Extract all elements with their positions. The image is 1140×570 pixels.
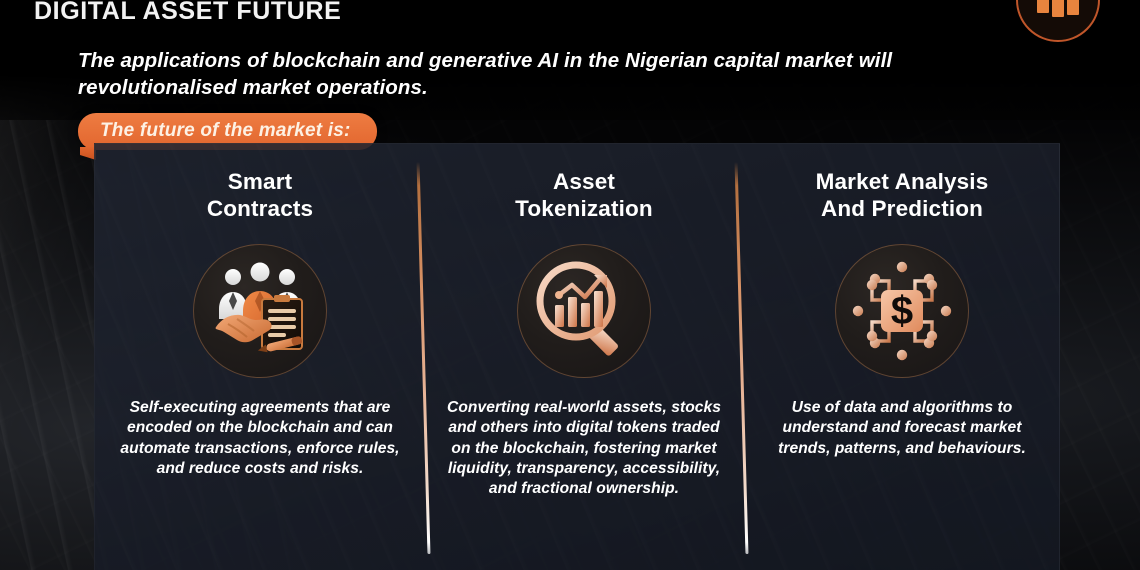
column-title-line-1: Smart (228, 169, 293, 194)
content-panel: Smart Contracts (94, 143, 1060, 570)
column-body-market-analysis: Use of data and algorithms to understand… (756, 398, 1049, 459)
column-body-smart-contracts: Self-executing agreements that are encod… (108, 398, 412, 479)
column-title-line-2: Contracts (207, 196, 313, 221)
page-title: DIGITAL ASSET FUTURE (34, 0, 341, 26)
column-title-smart-contracts: Smart Contracts (95, 169, 425, 222)
column-title-asset-tokenization: Asset Tokenization (425, 169, 743, 222)
columns-container: Smart Contracts (95, 144, 1059, 570)
column-title-line-2: And Prediction (821, 196, 983, 221)
column-body-asset-tokenization: Converting real-world assets, stocks and… (441, 398, 727, 499)
column-title-line-1: Asset (553, 169, 615, 194)
dollar-chip-circuit-icon: $ (835, 244, 969, 378)
logo-bar-2 (1052, 0, 1064, 17)
icon-wrap-smart-contracts (193, 244, 327, 378)
column-title-line-1: Market Analysis (816, 169, 989, 194)
magnifier-bar-chart-icon (517, 244, 651, 378)
column-smart-contracts: Smart Contracts (95, 144, 425, 570)
column-title-line-2: Tokenization (515, 196, 653, 221)
column-market-analysis: Market Analysis And Prediction (743, 144, 1060, 570)
logo-bar-3 (1067, 0, 1079, 15)
icon-wrap-asset-tokenization (517, 244, 651, 378)
logo-bar-1 (1037, 0, 1049, 13)
icon-wrap-market-analysis: $ (835, 244, 969, 378)
column-asset-tokenization: Asset Tokenization (425, 144, 743, 570)
handshake-contract-icon (193, 244, 327, 378)
page-subtitle: The applications of blockchain and gener… (78, 48, 958, 101)
column-title-market-analysis: Market Analysis And Prediction (743, 169, 1060, 222)
svg-text:$: $ (891, 289, 913, 333)
